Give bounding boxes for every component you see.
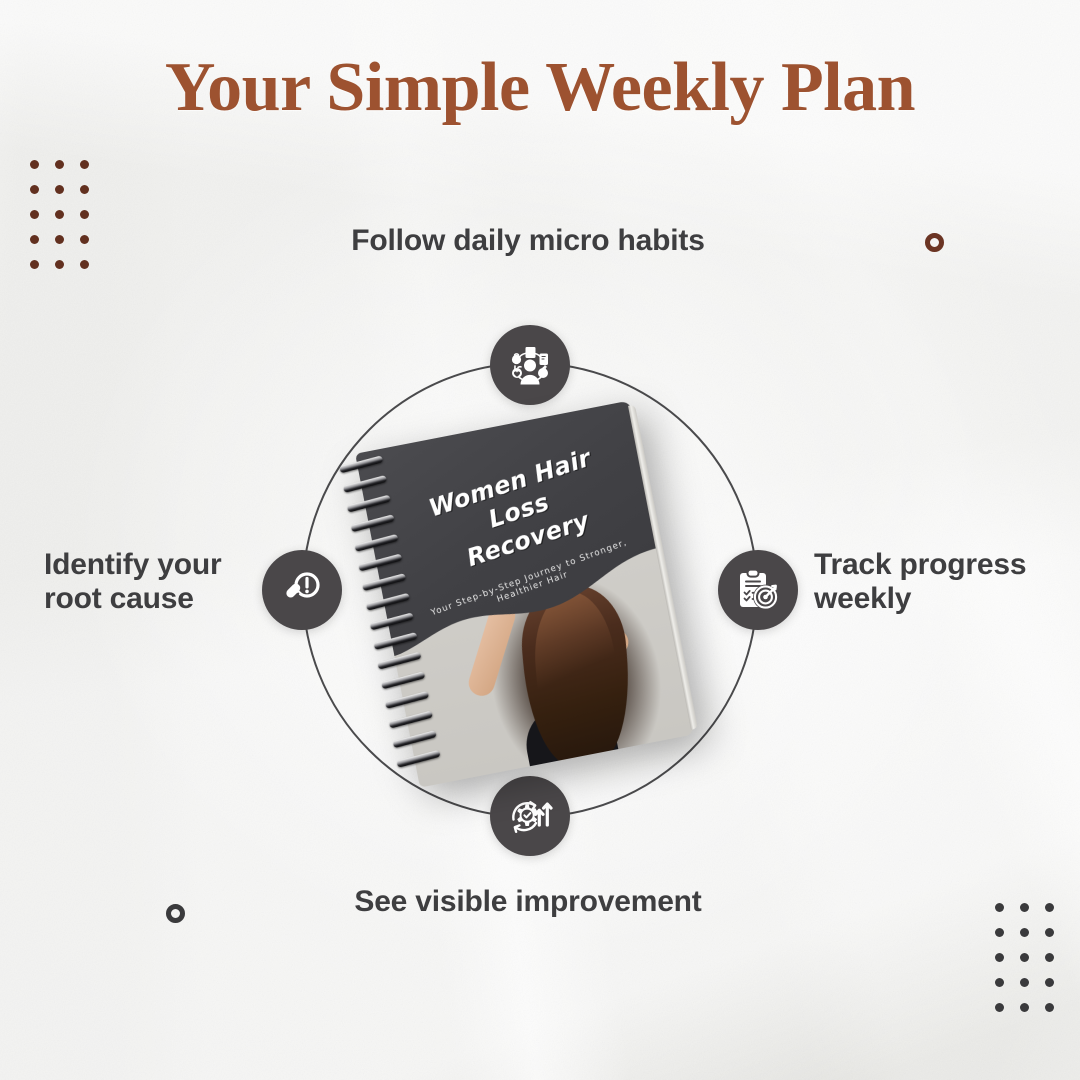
healthy-habits-icon (505, 340, 555, 390)
page-title: Your Simple Weekly Plan (0, 48, 1080, 128)
decorative-ring-bottom-left (166, 904, 185, 923)
magnifier-alert-icon (279, 567, 325, 613)
gear-growth-icon (506, 792, 554, 840)
step-icon-badge-track-progress-weekly[interactable] (718, 550, 798, 630)
decorative-dot-grid-top-left (30, 160, 89, 269)
step-label-follow-daily-micro-habits: Follow daily micro habits (318, 224, 738, 258)
step-icon-badge-follow-daily-micro-habits[interactable] (490, 325, 570, 405)
step-icon-badge-see-visible-improvement[interactable] (490, 776, 570, 856)
step-icon-badge-identify-your-root-cause[interactable] (262, 550, 342, 630)
step-label-identify-your-root-cause: Identify your root cause (44, 548, 254, 615)
decorative-ring-top-right (925, 233, 944, 252)
step-label-track-progress-weekly: Track progress weekly (814, 548, 1054, 615)
clipboard-target-icon (734, 566, 782, 614)
decorative-dot-grid-bottom-right (995, 903, 1054, 1012)
spiral-notebook: Women Hair Loss Recovery Your Step-by-St… (355, 400, 695, 787)
infographic-canvas: Your Simple Weekly Plan Follow daily mic… (0, 0, 1080, 1080)
step-label-see-visible-improvement: See visible improvement (318, 885, 738, 919)
